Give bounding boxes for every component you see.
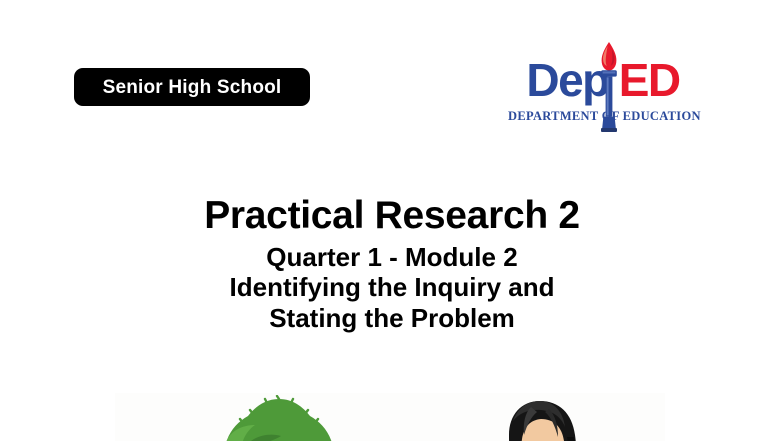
cover-illustration bbox=[115, 393, 665, 441]
cover-header: Senior High School Dep ED bbox=[0, 0, 784, 150]
torch-icon bbox=[596, 40, 622, 132]
student-illustration bbox=[497, 397, 583, 441]
module-topic-line-2: Stating the Problem bbox=[0, 303, 784, 334]
tree-illustration bbox=[215, 395, 343, 441]
strand-badge: Senior High School bbox=[74, 68, 310, 106]
strand-badge-label: Senior High School bbox=[103, 78, 282, 97]
course-title: Practical Research 2 bbox=[0, 196, 784, 236]
deped-logo: Dep ED DEPARTMENT OF EDUCATION bbox=[508, 40, 698, 135]
module-topic-line-1: Identifying the Inquiry and bbox=[0, 272, 784, 303]
deped-wordmark-ed: ED bbox=[619, 57, 680, 103]
module-cover-page: Senior High School Dep ED bbox=[0, 0, 784, 441]
module-label: Quarter 1 - Module 2 bbox=[0, 236, 784, 273]
title-block: Practical Research 2 Quarter 1 - Module … bbox=[0, 196, 784, 334]
